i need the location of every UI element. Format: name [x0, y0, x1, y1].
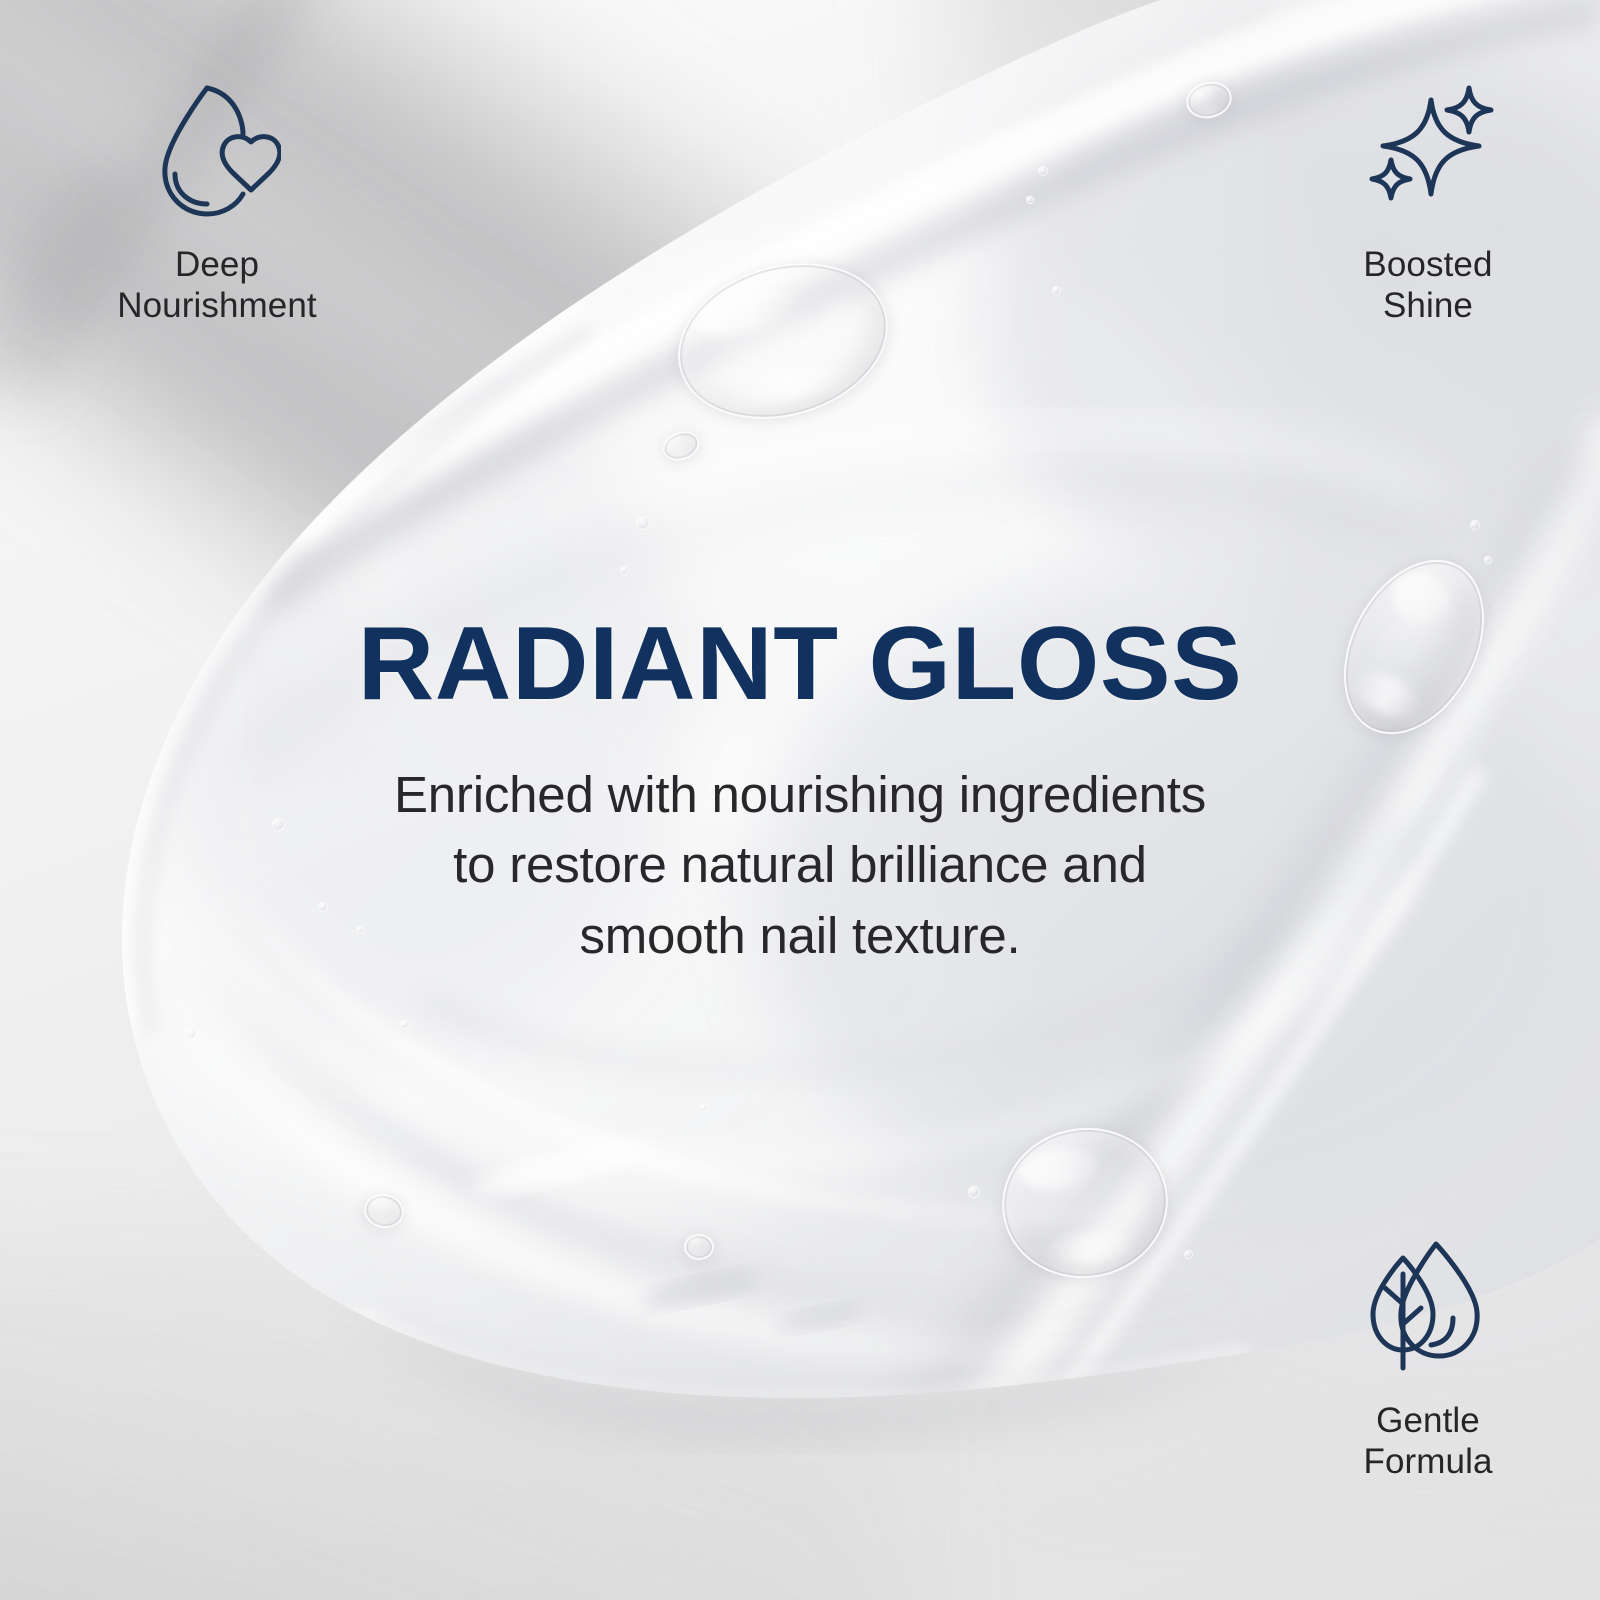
gel-microbubble-11: [700, 1104, 708, 1112]
feature-label-deep-nourishment: Deep Nourishment: [117, 244, 317, 327]
feature-boosted-shine: Boosted Shine: [1296, 82, 1560, 326]
gel-microbubble-1: [636, 516, 650, 530]
subtitle-line-1: Enriched with nourishing ingredients: [250, 760, 1350, 830]
gel-microbubble-3: [1038, 166, 1048, 176]
product-feature-poster: Deep Nourishment Boosted Shine Gentle Fo…: [0, 0, 1600, 1600]
subtitle-line-3: smooth nail texture.: [250, 901, 1350, 971]
gel-microbubble-9: [186, 1028, 197, 1039]
subtitle: Enriched with nourishing ingredients to …: [250, 760, 1350, 971]
gel-bubble-small-d: [684, 1234, 714, 1260]
page-title: RADIANT GLOSS: [239, 612, 1361, 716]
hero-text-block: RADIANT GLOSS Enriched with nourishing i…: [250, 612, 1350, 971]
gel-microbubble-4: [1026, 196, 1034, 204]
feature-deep-nourishment: Deep Nourishment: [72, 82, 362, 326]
gel-microbubble-5: [1052, 286, 1061, 295]
gel-microbubble-13: [1184, 1250, 1193, 1259]
gel-microbubble-12: [968, 1186, 980, 1198]
gel-microbubble-2: [620, 566, 629, 575]
subtitle-line-2: to restore natural brilliance and: [250, 830, 1350, 900]
droplet-heart-icon: [153, 82, 281, 228]
feature-gentle-formula: Gentle Formula: [1296, 1238, 1560, 1482]
leaf-droplet-icon: [1361, 1238, 1495, 1384]
gel-microbubble-10: [400, 1020, 409, 1029]
sparkle-stars-icon: [1357, 82, 1499, 228]
feature-label-boosted-shine: Boosted Shine: [1363, 244, 1492, 327]
gel-microbubble-15: [1484, 556, 1492, 564]
feature-label-gentle-formula: Gentle Formula: [1363, 1400, 1492, 1483]
gel-microbubble-14: [1470, 520, 1480, 530]
